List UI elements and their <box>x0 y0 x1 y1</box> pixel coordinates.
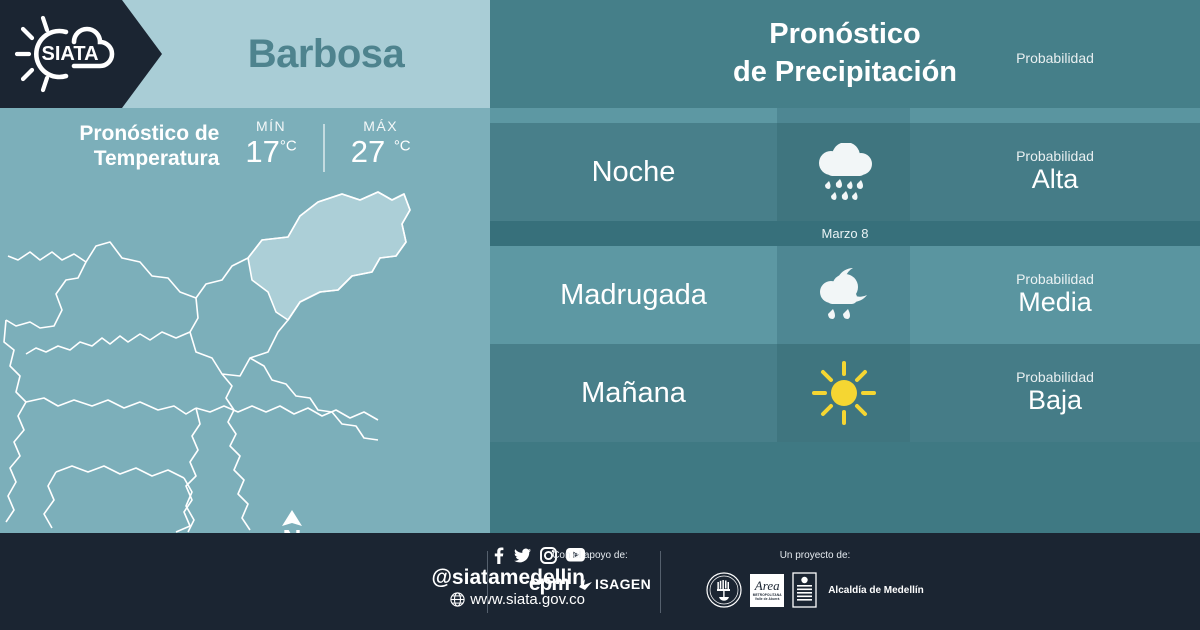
probability-value: Baja <box>1028 385 1082 416</box>
support-block: Con el apoyo de: epm ISAGEN <box>510 550 670 596</box>
temperature-title-line2: Temperatura <box>79 147 219 172</box>
support-label: Con el apoyo de: <box>510 550 670 561</box>
temperature-min-unit: °C <box>280 138 297 155</box>
isagen-text: ISAGEN <box>595 576 651 592</box>
epm-logo: epm <box>529 572 569 596</box>
probability-label: Probabilidad <box>1016 148 1094 164</box>
footer-divider-2 <box>660 551 661 613</box>
map-region-barbosa <box>248 192 410 320</box>
precipitation-title-line1: Pronóstico <box>769 16 920 54</box>
isagen-mark-icon <box>578 578 593 591</box>
temperature-divider <box>323 124 325 172</box>
area-logo-sub: METROPOLITANA Valle de Aburrá <box>750 593 784 601</box>
forecast-row: Madrugada Probabilidad Media <box>490 246 1200 344</box>
facebook-icon[interactable] <box>492 547 505 564</box>
alcaldia-label: Alcaldía de Medellín <box>828 585 924 596</box>
globe-icon <box>450 592 465 607</box>
project-label: Un proyecto de: <box>700 550 930 561</box>
forecast-period: Mañana <box>490 344 777 442</box>
alcaldia-logo-icon <box>792 572 817 608</box>
footer: @siatamedellin www.siata.gov.co Con el a… <box>0 533 1200 630</box>
rain-cloud-icon <box>777 123 910 221</box>
area-logo-word: Area <box>755 579 780 592</box>
footer-divider-1 <box>487 551 488 613</box>
temperature-min-label: MÍN <box>245 118 296 134</box>
temperature-min-value-wrap: 17°C <box>245 135 296 169</box>
temperature-max-unit: °C <box>394 138 411 155</box>
area-metropolitana-logo: Area METROPOLITANA Valle de Aburrá <box>750 574 784 607</box>
probability-label: Probabilidad <box>1016 50 1094 66</box>
temperature-max-value: 27 <box>351 134 385 169</box>
city-banner: SIATA Barbosa <box>0 0 490 108</box>
left-panel: SIATA Barbosa Pronóstico de Temperatura … <box>0 0 490 533</box>
project-logos: Area METROPOLITANA Valle de Aburrá Alcal… <box>700 572 930 608</box>
precipitation-panel: Pronóstico de Precipitación Marzo 7 Tard… <box>490 0 1200 533</box>
temperature-min: MÍN 17°C <box>245 118 296 169</box>
moon-rain-icon <box>777 246 910 344</box>
siata-logo-chevron: SIATA <box>0 0 162 108</box>
udea-seal-icon <box>706 572 742 608</box>
forecast-row: Mañana Probabilidad Baja <box>490 344 1200 442</box>
forecast-period: Noche <box>490 123 777 221</box>
siata-logo-text: SIATA <box>41 43 98 65</box>
project-block: Un proyecto de: Area METROPOLITANA Valle… <box>700 550 930 608</box>
date-band-marzo-8: Marzo 8 <box>490 221 1200 246</box>
temperature-title-line1: Pronóstico de <box>79 122 219 147</box>
temperature-max-label: MÁX <box>351 118 411 134</box>
forecast-probability: Probabilidad Media <box>910 246 1200 344</box>
temperature-min-value: 17 <box>245 134 279 169</box>
forecast-probability: Probabilidad Baja <box>910 344 1200 442</box>
temperature-max-value-wrap: 27 °C <box>351 135 411 169</box>
temperature-max: MÁX 27 °C <box>351 118 411 169</box>
precipitation-title-line2: de Precipitación <box>733 54 957 92</box>
isagen-logo: ISAGEN <box>578 576 651 592</box>
sun-cloud-icon: SIATA <box>14 12 120 96</box>
forecast-row: Noche Probabilidad Alta <box>490 123 1200 221</box>
sun-icon <box>777 344 910 442</box>
temperature-title: Pronóstico de Temperatura <box>79 118 219 172</box>
forecast-probability: Probabilidad Alta <box>910 123 1200 221</box>
forecast-period: Madrugada <box>490 246 777 344</box>
probability-label: Probabilidad <box>1016 369 1094 385</box>
support-logos: epm ISAGEN <box>510 572 670 596</box>
probability-value: Media <box>1018 287 1092 318</box>
region-map: N <box>0 180 490 533</box>
probability-value: Alta <box>1032 164 1079 195</box>
page-title: Barbosa <box>162 0 490 108</box>
probability-label: Probabilidad <box>1016 271 1094 287</box>
map-svg <box>0 180 490 533</box>
